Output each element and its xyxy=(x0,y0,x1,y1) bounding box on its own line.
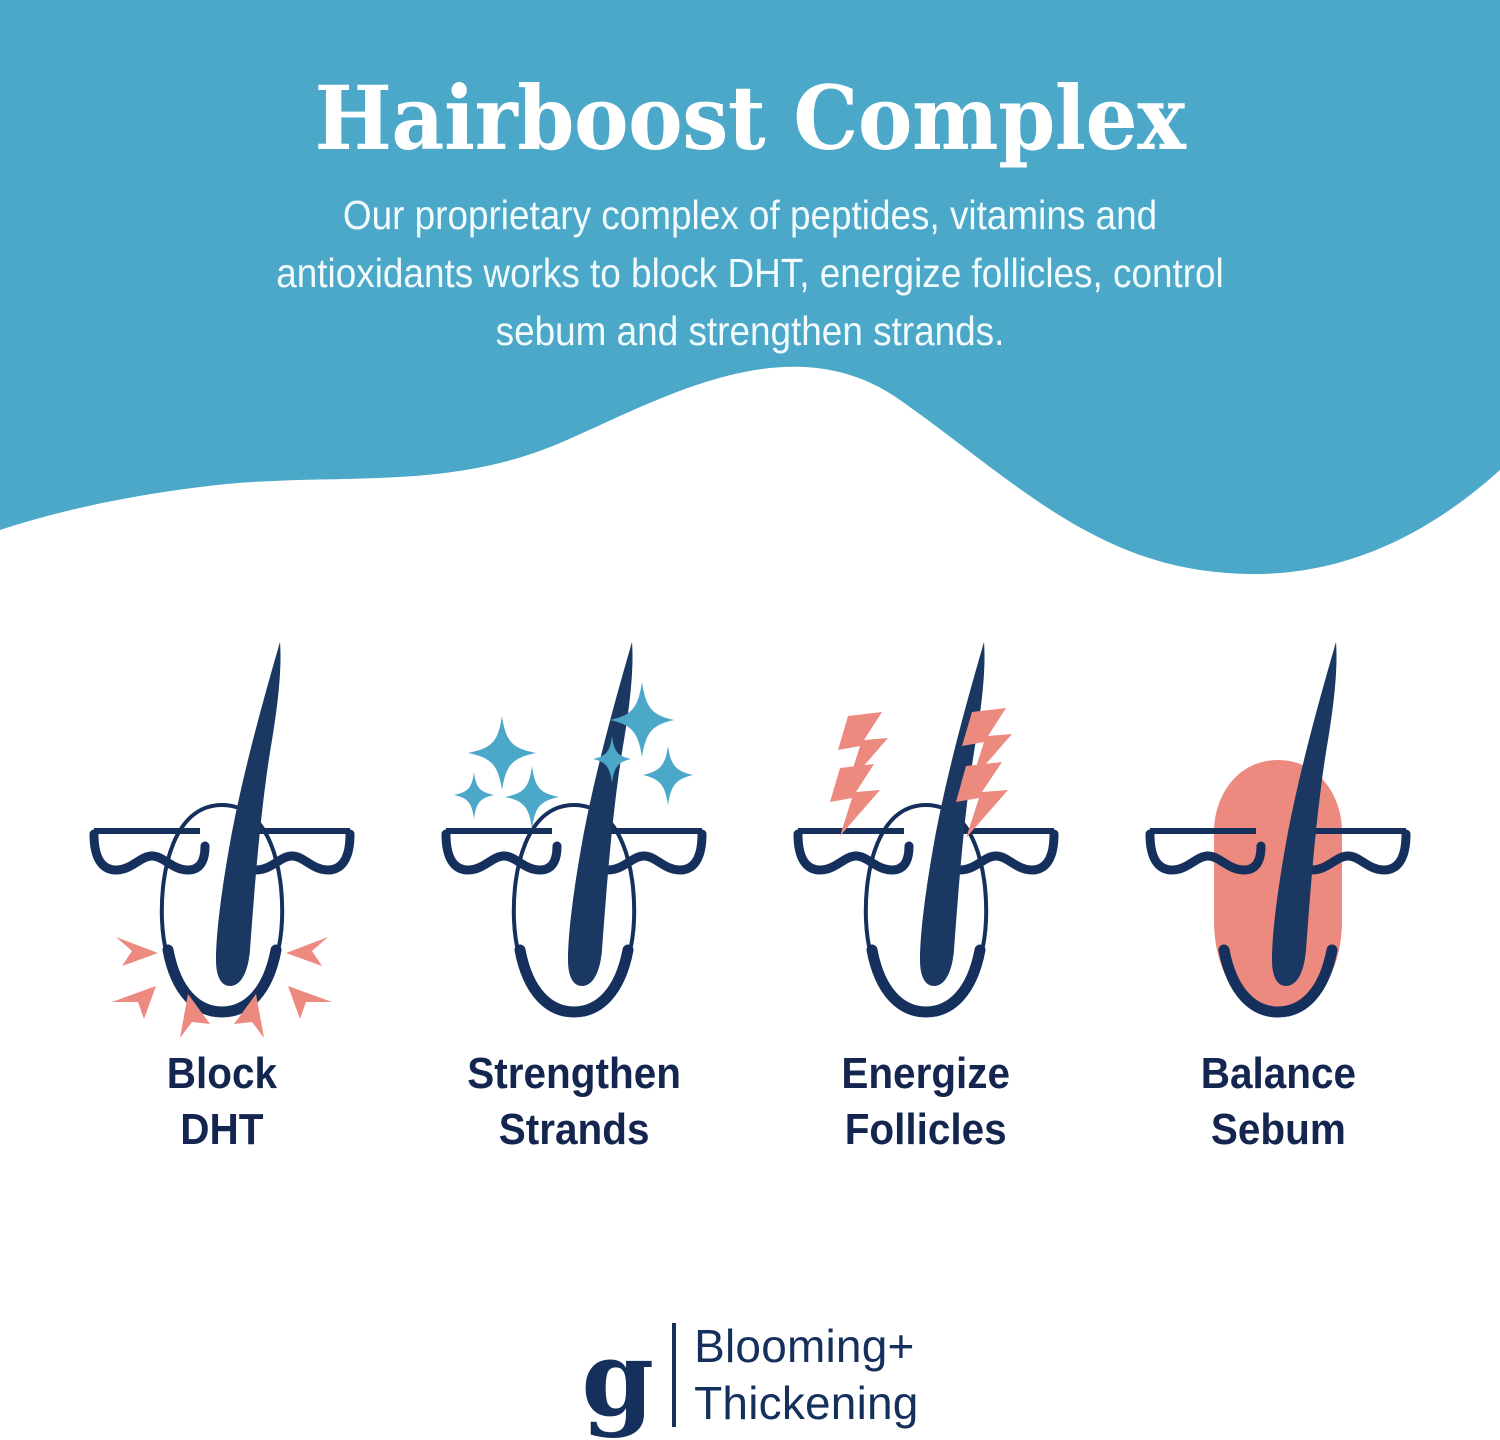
infographic-page: Hairboost Complex Our proprietary comple… xyxy=(0,0,1500,1440)
header-text-block: Hairboost Complex Our proprietary comple… xyxy=(0,0,1500,420)
hair-follicle-lightning-icon xyxy=(776,620,1076,1040)
feature-label-line2: DHT xyxy=(180,1105,263,1154)
feature-row: Block DHT xyxy=(0,620,1500,1200)
brand-monogram-g-icon: g xyxy=(581,1331,654,1427)
feature-label: Block DHT xyxy=(167,1046,277,1159)
feature-label-line2: Follicles xyxy=(845,1105,1007,1154)
feature-label-line2: Strands xyxy=(499,1105,650,1154)
feature-label-line1: Balance xyxy=(1200,1049,1355,1098)
feature-label-line1: Strengthen xyxy=(467,1049,681,1098)
feature-balance-sebum: Balance Sebum xyxy=(1102,620,1454,1159)
header-panel: Hairboost Complex Our proprietary comple… xyxy=(0,0,1500,600)
feature-label: Energize Follicles xyxy=(842,1046,1011,1159)
feature-energize-follicles: Energize Follicles xyxy=(750,620,1102,1159)
hair-follicle-sparkles-icon xyxy=(424,620,724,1040)
brand-wordmark-line2: Thickening xyxy=(694,1375,918,1432)
hair-follicle-sebum-icon xyxy=(1128,620,1428,1040)
brand-wordmark-line1: Blooming+ xyxy=(694,1318,918,1375)
brand-footer: g Blooming+ Thickening xyxy=(0,1318,1500,1432)
feature-label: Strengthen Strands xyxy=(467,1046,681,1159)
page-subtitle: Our proprietary complex of peptides, vit… xyxy=(251,186,1250,361)
feature-block-dht: Block DHT xyxy=(46,620,398,1159)
feature-strengthen-strands: Strengthen Strands xyxy=(398,620,750,1159)
brand-divider xyxy=(672,1323,676,1427)
feature-label-line1: Energize xyxy=(842,1049,1011,1098)
page-title: Hairboost Complex xyxy=(53,74,1448,162)
hair-follicle-arrows-icon xyxy=(72,620,372,1040)
feature-label-line2: Sebum xyxy=(1211,1105,1346,1154)
feature-label-line1: Block xyxy=(167,1049,277,1098)
brand-wordmark: Blooming+ Thickening xyxy=(694,1318,918,1432)
feature-label: Balance Sebum xyxy=(1200,1046,1355,1159)
